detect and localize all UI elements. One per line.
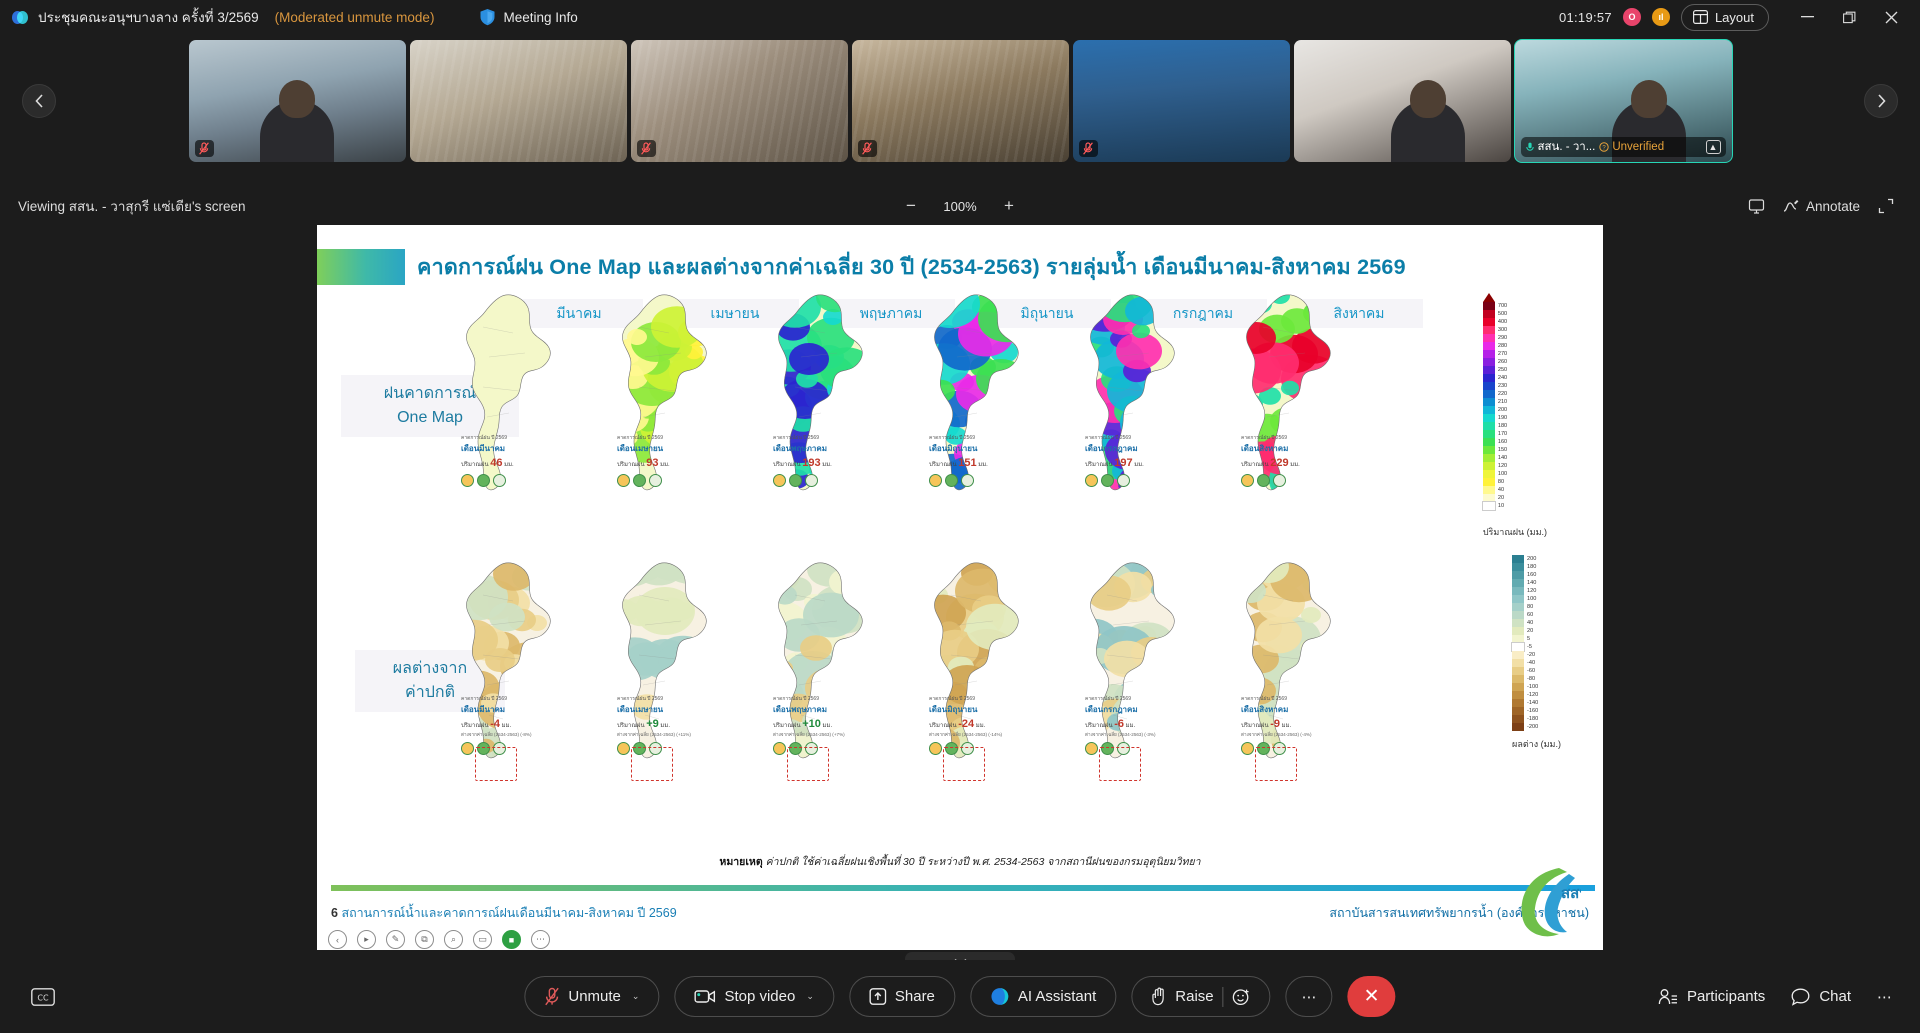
legend-swatch [1483,422,1495,430]
legend-tick-label: -60 [1527,667,1538,675]
share-screen-icon [869,988,886,1005]
toolbar-more-icon[interactable]: ⋯ [1877,988,1892,1006]
meeting-info-label: Meeting Info [503,10,577,25]
legend-tick-label: 500 [1498,310,1507,318]
legend-swatch [1483,302,1495,310]
legend-swatch [1483,486,1495,494]
annotation-month: เดือนพฤษภาคม [773,443,832,455]
legend-swatch [1483,390,1495,398]
layout-grid-icon [1693,10,1708,24]
annotation-header: คาดการณ์ฝน ปี 2569 [461,435,514,443]
annotation-value: ปริมาณฝน -24 มม. [929,716,1002,733]
sun-icon [929,742,942,755]
sun-icon [1241,474,1254,487]
annotation-value: ปริมาณฝน -6 มม. [1085,716,1156,733]
participant-tile-1[interactable] [189,40,406,162]
leaf-icon [1117,474,1130,487]
unmute-button[interactable]: Unmute ⌄ [524,976,659,1017]
annotation-month: เดือนมีนาคม [461,443,514,455]
legend-tick-label: 140 [1527,579,1538,587]
globe-icon [477,474,490,487]
legend-swatch [1483,342,1495,350]
meeting-toolbar: CC Unmute ⌄ Stop video ⌄ [0,960,1920,1033]
legend-swatch [1512,707,1524,715]
sun-icon [929,474,942,487]
annotation-header: คาดการณ์ฝน ปี 2569 [461,696,532,704]
map-annotation: คาดการณ์ฝน ปี 2569เดือนกรกฎาคมปริมาณฝน 1… [1085,435,1144,487]
mic-muted-icon [637,140,656,157]
zoom-controls: − 100% + [902,196,1018,216]
legend-swatch [1483,414,1495,422]
legend-swatch [1512,563,1524,571]
legend-swatch [1483,438,1495,446]
legend-tick-label: 20 [1498,494,1507,502]
reaction-smiley-icon[interactable] [1233,988,1251,1006]
legend-tick-label: 120 [1527,587,1538,595]
unmute-label: Unmute [568,988,621,1005]
closed-caption-icon[interactable]: CC [24,980,62,1014]
recording-badge[interactable]: O [1623,8,1641,26]
back-icon[interactable]: ‹ [328,930,347,949]
legend-tick-label: 700 [1498,302,1507,310]
mic-icon [1526,142,1534,153]
annotation-header: คาดการณ์ฝน ปี 2569 [929,435,988,443]
legend-tick-label: 300 [1498,326,1507,334]
raise-hand-button[interactable]: Raise [1131,976,1270,1017]
globe-icon [1101,474,1114,487]
annotate-button[interactable]: Annotate [1783,198,1860,214]
legend-swatch [1483,358,1495,366]
annotation-month: เดือนมิถุนายน [929,443,988,455]
legend-swatch [1483,502,1495,510]
legend-tick-label: 160 [1527,571,1538,579]
legend-swatch [1483,350,1495,358]
legend-swatch [1483,454,1495,462]
difference-legend-caption: ผลต่าง (มม.) [1512,737,1561,751]
sun-icon [617,474,630,487]
map-annotation: คาดการณ์ฝน ปี 2569เดือนเมษายนปริมาณฝน 93… [617,435,670,487]
screen-share-bar: Viewing สสน. - วาสุกรี แซ่เตีย's screen … [0,188,1920,224]
mic-muted-icon [544,987,559,1006]
chat-label: Chat [1819,988,1851,1005]
legend-tick-label: 290 [1498,334,1507,342]
legend-swatch [1512,603,1524,611]
filmstrip-prev-button[interactable] [22,84,56,118]
record-icon[interactable]: ■ [502,930,521,949]
annotation-diff: ต่างจากค่าเฉลี่ย (2534-2563) (-8%) [461,732,532,739]
share-button[interactable]: Share [849,976,955,1017]
participant-tile-3[interactable] [631,40,848,162]
legend-tick-label: 200 [1527,555,1538,563]
more-icon[interactable]: ⋯ [531,930,550,949]
difference-map-row: คาดการณ์ฝน ปี 2569เดือนมีนาคมปริมาณฝน -4… [445,555,1353,785]
rainfall-legend-caption: ปริมาณฝน (มม.) [1483,525,1547,539]
legend-tick-label: 20 [1527,627,1538,635]
annotation-value: ปริมาณฝน -4 มม. [461,716,532,733]
annotation-value: ปริมาณฝน 193 มม. [773,455,832,472]
unmute-chevron-down-icon[interactable]: ⌄ [632,991,640,1002]
difference-map-1: คาดการณ์ฝน ปี 2569เดือนมีนาคมปริมาณฝน -4… [445,555,573,785]
meeting-title: ประชุมคณะอนุฯบางลาง ครั้งที่ 3/2569 [38,6,259,28]
map-annotation: คาดการณ์ฝน ปี 2569เดือนพฤษภาคมปริมาณฝน 1… [773,435,832,487]
legend-swatch [1512,699,1524,707]
legend-tick-label: -80 [1527,675,1538,683]
chat-bubble-icon [1791,988,1810,1006]
legend-bottom-arrow [1483,510,1495,519]
legend-swatch [1483,366,1495,374]
participants-icon [1658,988,1678,1006]
legend-tick-label: 40 [1498,486,1507,494]
leaf-icon [1273,474,1286,487]
legend-swatch [1483,318,1495,326]
title-bar-left: ประชุมคณะอนุฯบางลาง ครั้งที่ 3/2569 (Mod… [0,6,578,28]
sun-icon [773,742,786,755]
globe-icon [633,474,646,487]
page-number: 6 [331,906,338,920]
meeting-timer: 01:19:57 [1559,10,1612,25]
source-icons [1085,474,1144,487]
source-icons [1241,474,1300,487]
viewing-label: Viewing สสน. - วาสุกรี แซ่เตีย's screen [0,195,246,217]
legend-swatch [1512,675,1524,683]
legend-tick-label: 40 [1527,619,1538,627]
legend-swatch [1512,627,1524,635]
participant-tile-5[interactable] [1073,40,1290,162]
legend-swatch [1483,382,1495,390]
legend-tick-label: 10 [1498,502,1507,510]
legend-tick-label: 170 [1498,430,1507,438]
ai-assistant-label: AI Assistant [1018,988,1096,1005]
footer-left-text: สถานการณ์น้ำและคาดการณ์ฝนเดือนมีนาคม-สิง… [341,906,676,920]
video-chevron-down-icon[interactable]: ⌄ [806,991,814,1002]
difference-legend: 200180160140120100806040205-5-20-40-60-8… [1512,555,1561,751]
legend-swatch [1483,494,1495,502]
legend-tick-label: 260 [1498,358,1507,366]
legend-tick-label: 250 [1498,366,1507,374]
leaf-icon [649,474,662,487]
present-icon[interactable]: ▭ [473,930,492,949]
annotation-diff: ต่างจากค่าเฉลี่ย (2534-2563) (+11%) [617,732,691,739]
legend-swatch [1512,571,1524,579]
legend-tick-label: -100 [1527,683,1538,691]
legend-tick-label: -5 [1527,643,1538,651]
legend-tick-label: 270 [1498,350,1507,358]
share-label: Share [895,988,935,1005]
annotation-header: คาดการณ์ฝน ปี 2569 [1241,435,1300,443]
difference-map-2: คาดการณ์ฝน ปี 2569เดือนเมษายนปริมาณฝน +9… [601,555,729,785]
end-call-button[interactable]: ✕ [1348,976,1396,1017]
legend-swatch [1483,470,1495,478]
toolbar-center-group: Unmute ⌄ Stop video ⌄ Share [524,976,1395,1017]
legend-tick-label: -40 [1527,659,1538,667]
legend-swatch [1512,723,1524,731]
legend-swatch [1512,579,1524,587]
question-circle-icon: ? [1599,142,1609,152]
participant-tile-6[interactable] [1294,40,1511,162]
legend-tick-label: 200 [1498,406,1507,414]
legend-tick-label: 180 [1527,563,1538,571]
difference-map-3: คาดการณ์ฝน ปี 2569เดือนพฤษภาคมปริมาณฝน +… [757,555,885,785]
annotation-header: คาดการณ์ฝน ปี 2569 [1241,696,1312,704]
highlight-box [787,747,829,781]
highlight-box [631,747,673,781]
legend-swatch [1512,555,1524,563]
annotation-header: คาดการณ์ฝน ปี 2569 [617,696,691,704]
chat-button[interactable]: Chat [1791,988,1851,1006]
title-bar-right: 01:19:57 O ıl Layout [1559,2,1920,32]
mic-muted-icon [858,140,877,157]
presenter-tools: ‹ ▸ ✎ ⧉ ⌕ ▭ ■ ⋯ [328,930,550,949]
magnifier-icon[interactable]: ⌕ [444,930,463,949]
layout-button[interactable]: Layout [1681,4,1769,31]
annotation-diff: ต่างจากค่าเฉลี่ย (2534-2563) (-4%) [1241,732,1312,739]
annotation-diff: ต่างจากค่าเฉลี่ย (2534-2563) (-14%) [929,732,1002,739]
annotation-header: คาดการณ์ฝน ปี 2569 [1085,435,1144,443]
participant-tile-4[interactable] [852,40,1069,162]
forecast-map-6: คาดการณ์ฝน ปี 2569เดือนสิงหาคมปริมาณฝน 2… [1225,287,1353,517]
forecast-map-row: คาดการณ์ฝน ปี 2569เดือนมีนาคมปริมาณฝน 46… [445,287,1353,517]
annotation-month: เดือนกรกฎาคม [1085,443,1144,455]
legend-swatch [1483,398,1495,406]
slide-note-label: หมายเหตุ [719,856,762,868]
legend-swatch [1483,374,1495,382]
stats-badge[interactable]: ıl [1652,8,1670,26]
shield-icon [479,8,496,26]
annotation-month: เดือนสิงหาคม [1241,704,1312,716]
annotation-diff: ต่างจากค่าเฉลี่ย (2534-2563) (+7%) [773,732,845,739]
annotation-header: คาดการณ์ฝน ปี 2569 [773,435,832,443]
slide-note: หมายเหตุ ค่าปกติ ใช้ค่าเฉลี่ยฝนเชิงพื้นท… [317,853,1603,870]
zoom-in-button[interactable]: + [1000,196,1018,216]
zoom-level-value: 100% [940,199,980,214]
map-annotation: คาดการณ์ฝน ปี 2569เดือนสิงหาคมปริมาณฝน 2… [1241,435,1300,487]
rainfall-legend: 7005004003002902802702602502402302202102… [1483,293,1547,539]
annotate-label: Annotate [1806,199,1860,214]
sun-icon [1241,742,1254,755]
legend-tick-label: 180 [1498,422,1507,430]
annotation-month: เดือนกรกฎาคม [1085,704,1156,716]
legend-swatch [1512,635,1524,643]
legend-tick-label: 400 [1498,318,1507,326]
legend-top-arrow [1483,293,1495,302]
legend-tick-label: 100 [1498,470,1507,478]
participant-name-pill: สสน. - วา... ? Unverified ▲ [1521,137,1726,157]
footer-left: 6 สถานการณ์น้ำและคาดการณ์ฝนเดือนมีนาคม-ส… [331,903,677,923]
forecast-map-2: คาดการณ์ฝน ปี 2569เดือนเมษายนปริมาณฝน 93… [601,287,729,517]
more-options-button[interactable]: ⋯ [1286,976,1333,1017]
restore-icon[interactable] [1830,2,1868,32]
slide-title: คาดการณ์ฝน One Map และผลต่างจากค่าเฉลี่ย… [417,250,1406,284]
legend-tick-label: -140 [1527,699,1538,707]
filmstrip-next-button[interactable] [1864,84,1898,118]
shared-slide: คาดการณ์ฝน One Map และผลต่างจากค่าเฉลี่ย… [317,225,1603,950]
difference-map-4: คาดการณ์ฝน ปี 2569เดือนมิถุนายนปริมาณฝน … [913,555,1041,785]
annotation-header: คาดการณ์ฝน ปี 2569 [617,435,670,443]
annotation-month: เดือนพฤษภาคม [773,704,845,716]
title-bar: ประชุมคณะอนุฯบางลาง ครั้งที่ 3/2569 (Mod… [0,0,1920,34]
legend-tick-label: -200 [1527,723,1538,731]
annotation-value: ปริมาณฝน 93 มม. [617,455,670,472]
forecast-map-4: คาดการณ์ฝน ปี 2569เดือนมิถุนายนปริมาณฝน … [913,287,1041,517]
webex-meeting-window: ประชุมคณะอนุฯบางลาง ครั้งที่ 3/2569 (Mod… [0,0,1920,1033]
ai-assistant-button[interactable]: AI Assistant [970,976,1116,1017]
annotation-month: เดือนมิถุนายน [929,704,1002,716]
legend-tick-label: 220 [1498,390,1507,398]
legend-tick-label: 280 [1498,342,1507,350]
globe-icon [789,474,802,487]
toolbar-divider [1223,987,1224,1007]
mic-muted-icon [195,140,214,157]
participants-button[interactable]: Participants [1658,988,1765,1006]
highlight-box [943,747,985,781]
legend-swatch [1483,326,1495,334]
legend-swatch [1512,595,1524,603]
legend-swatch [1512,715,1524,723]
legend-tick-label: -120 [1527,691,1538,699]
legend-tick-label: 160 [1498,438,1507,446]
raise-label: Raise [1175,988,1213,1005]
legend-swatch [1483,334,1495,342]
copy-icon[interactable]: ⧉ [415,930,434,949]
sun-icon [773,474,786,487]
sun-icon [461,742,474,755]
legend-tick-label: 190 [1498,414,1507,422]
play-icon[interactable]: ▸ [357,930,376,949]
difference-map-6: คาดการณ์ฝน ปี 2569เดือนสิงหาคมปริมาณฝน -… [1225,555,1353,785]
svg-text:CC: CC [37,993,49,1002]
promote-icon[interactable]: ▲ [1706,140,1721,154]
participant-tile-2[interactable] [410,40,627,162]
source-icons [617,474,670,487]
legend-swatch [1512,651,1524,659]
source-icons [929,474,988,487]
participant-tile-7-active[interactable]: สสน. - วา... ? Unverified ▲ [1515,40,1732,162]
ssn-logo: สสน [1489,864,1581,942]
toolbar-right-group: Participants Chat ⋯ [1658,988,1920,1006]
legend-swatch [1483,406,1495,414]
legend-tick-label: -180 [1527,715,1538,723]
sun-icon [1085,474,1098,487]
sun-icon [617,742,630,755]
webex-logo-icon [12,9,29,26]
fullscreen-icon[interactable] [1878,198,1894,214]
legend-tick-label: 5 [1527,635,1538,643]
leaf-icon [493,474,506,487]
forecast-map-3: คาดการณ์ฝน ปี 2569เดือนพฤษภาคมปริมาณฝน 1… [757,287,885,517]
legend-tick-label: 240 [1498,374,1507,382]
svg-text:สสน: สสน [1561,884,1581,902]
legend-tick-label: 80 [1498,478,1507,486]
window-controls [1788,2,1910,32]
annotation-month: เดือนเมษายน [617,704,691,716]
raise-hand-icon [1151,987,1166,1006]
participants-label: Participants [1687,988,1765,1005]
moderated-mode-label: (Moderated unmute mode) [275,10,435,25]
participant-filmstrip: สสน. - วา... ? Unverified ▲ [0,40,1920,162]
annotation-header: คาดการณ์ฝน ปี 2569 [773,696,845,704]
unverified-label: Unverified [1612,141,1664,153]
annotation-value: ปริมาณฝน 229 มม. [1241,455,1300,472]
layout-label: Layout [1715,10,1754,25]
source-icons [461,474,514,487]
annotation-value: ปริมาณฝน 197 มม. [1085,455,1144,472]
video-camera-icon [694,989,715,1004]
legend-swatch [1483,478,1495,486]
leaf-icon [805,474,818,487]
unverified-badge: ? Unverified [1599,141,1664,153]
source-icons [773,474,832,487]
legend-swatch [1483,462,1495,470]
meeting-info-button[interactable]: Meeting Info [479,8,577,26]
legend-swatch [1512,659,1524,667]
legend-swatch [1483,310,1495,318]
legend-tick-label: 120 [1498,462,1507,470]
pen-icon[interactable]: ✎ [386,930,405,949]
stop-video-label: Stop video [724,988,795,1005]
annotation-value: ปริมาณฝน -9 มม. [1241,716,1312,733]
leaf-icon [961,474,974,487]
globe-icon [945,474,958,487]
annotation-header: คาดการณ์ฝน ปี 2569 [929,696,1002,704]
sun-icon [1085,742,1098,755]
legend-tick-label: 230 [1498,382,1507,390]
slide-footer: 6 สถานการณ์น้ำและคาดการณ์ฝนเดือนมีนาคม-ส… [331,903,1589,923]
legend-swatch [1483,446,1495,454]
ai-assistant-icon [990,987,1009,1006]
legend-swatch [1512,691,1524,699]
legend-tick-label: 60 [1527,611,1538,619]
mic-muted-icon [1079,140,1098,157]
legend-tick-label: 140 [1498,454,1507,462]
stop-video-button[interactable]: Stop video ⌄ [674,976,833,1017]
share-bar-right: Annotate [1748,198,1920,215]
forecast-map-1: คาดการณ์ฝน ปี 2569เดือนมีนาคมปริมาณฝน 46… [445,287,573,517]
zoom-out-button[interactable]: − [902,196,920,216]
annotation-month: เดือนสิงหาคม [1241,443,1300,455]
legend-tick-label: 150 [1498,446,1507,454]
participant-name: สสน. - วา... [1538,138,1596,156]
legend-swatch [1512,683,1524,691]
pen-icon [1783,198,1799,214]
legend-tick-label: 210 [1498,398,1507,406]
legend-swatch [1512,667,1524,675]
monitor-icon[interactable] [1748,198,1765,215]
legend-tick-label: -160 [1527,707,1538,715]
title-accent-chip [317,249,405,285]
close-icon[interactable] [1872,2,1910,32]
difference-map-5: คาดการณ์ฝน ปี 2569เดือนกรกฎาคมปริมาณฝน -… [1069,555,1197,785]
annotation-month: เดือนมีนาคม [461,704,532,716]
annotation-month: เดือนเมษายน [617,443,670,455]
video-feed [1073,40,1290,162]
legend-tick-label: 100 [1527,595,1538,603]
minimize-icon[interactable] [1788,2,1826,32]
legend-swatch [1512,611,1524,619]
highlight-box [1099,747,1141,781]
annotation-value: ปริมาณฝน +10 มม. [773,716,845,733]
highlight-box [475,747,517,781]
annotation-value: ปริมาณฝน +9 มม. [617,716,691,733]
legend-tick-label: 80 [1527,603,1538,611]
annotation-header: คาดการณ์ฝน ปี 2569 [1085,696,1156,704]
legend-swatch [1512,619,1524,627]
legend-swatch [1483,430,1495,438]
map-annotation: คาดการณ์ฝน ปี 2569เดือนมิถุนายนปริมาณฝน … [929,435,988,487]
slide-note-body: ค่าปกติ ใช้ค่าเฉลี่ยฝนเชิงพื้นที่ 30 ปี … [766,856,1201,868]
footer-gradient-bar [331,885,1595,891]
annotation-value: ปริมาณฝน 46 มม. [461,455,514,472]
map-annotation: คาดการณ์ฝน ปี 2569เดือนมีนาคมปริมาณฝน 46… [461,435,514,487]
